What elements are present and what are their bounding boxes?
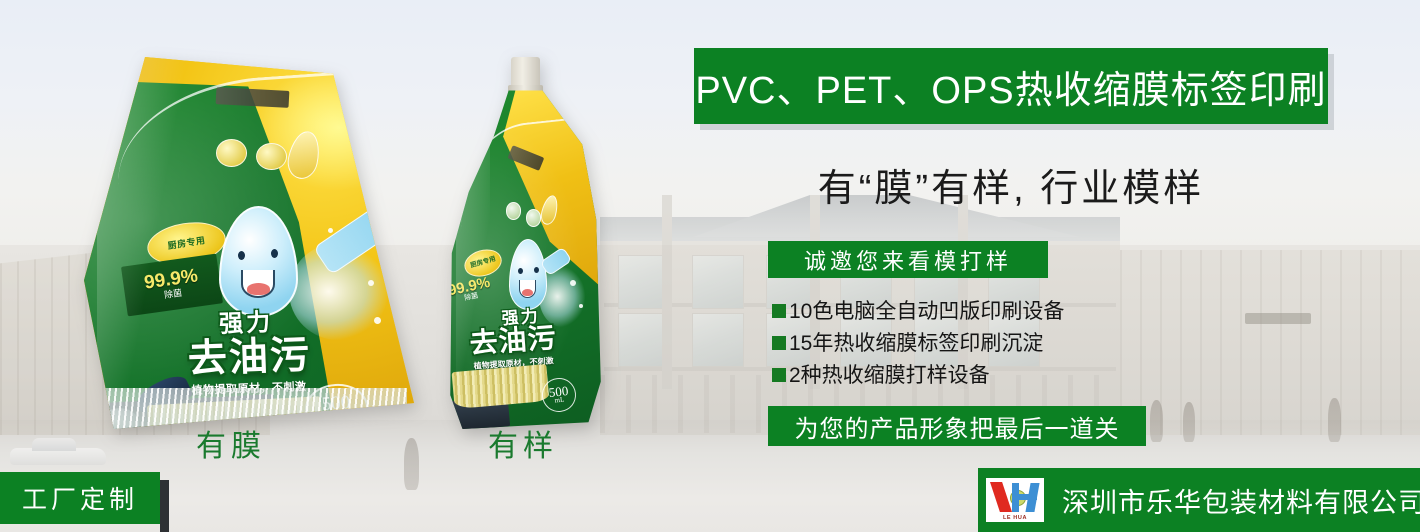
mascot-eye-right: [534, 267, 539, 273]
caption-left: 有膜: [196, 432, 266, 462]
background-pedestrian: [1150, 400, 1163, 442]
bullet-square-icon: [772, 336, 786, 350]
pouch-kitchen-badge-label: 厨房专用: [167, 236, 206, 251]
invitation-bar[interactable]: 诚邀您来看模打样: [768, 241, 1048, 278]
mascot-eye-right: [271, 249, 278, 258]
list-item: 2种热收缩膜打样设备: [772, 361, 1192, 389]
bottle-gloss-overlay: [456, 124, 490, 415]
background-car: [10, 438, 106, 468]
bubble: [368, 280, 374, 286]
pouch-seal-ribs: [97, 388, 407, 429]
factory-custom-label: 工厂定制: [22, 480, 138, 516]
background-pedestrian: [1183, 402, 1195, 442]
promise-text: 为您的产品形象把最后一道关: [795, 409, 1120, 444]
building-window: [692, 313, 744, 367]
pouch-sanitize-label: 除菌: [163, 288, 182, 301]
bubble: [579, 304, 583, 308]
building-window: [692, 255, 744, 309]
bullet-square-icon: [772, 368, 786, 382]
mascot-mouth: [519, 280, 536, 298]
headline-text: PVC、PET、OPS热收缩膜标签印刷: [695, 59, 1326, 114]
company-footer: LE HUA 深圳市乐华包装材料有限公司: [978, 468, 1420, 532]
promise-bar: 为您的产品形象把最后一道关: [768, 406, 1146, 446]
list-item-label: 10色电脑全自动凹版印刷设备: [789, 301, 1064, 322]
bottle-volume-unit: mL: [555, 397, 565, 405]
factory-tag-shadow: [160, 480, 169, 532]
mascot-mouth: [241, 270, 276, 298]
factory-custom-tag[interactable]: 工厂定制: [0, 472, 160, 524]
product-bottle: 厨房专用 99.9% 除菌 强力 去油污 植物提取原材，不刺激: [444, 57, 604, 429]
pouch-title-large: 去油污: [156, 335, 342, 380]
list-item: 15年热收缩膜标签印刷沉淀: [772, 329, 1192, 357]
background-pedestrian: [404, 438, 419, 490]
building-column: [662, 195, 672, 389]
logo-blue-stem-right: [1025, 483, 1039, 512]
mascot-eye-left: [238, 251, 245, 260]
pouch-icon-badge: [256, 143, 287, 171]
pouch-icon-badge: [216, 139, 247, 167]
invitation-label: 诚邀您来看模打样: [804, 244, 1012, 276]
promo-banner: 厨房专用 99.9% 除菌 强力 去油污 植物提取原材，不刺激: [0, 0, 1420, 532]
pouch-volume-unit: mL: [330, 412, 343, 422]
pouch-brand-strip: [216, 87, 289, 108]
pouch-bottom-seal: [97, 388, 407, 429]
pouch-title-small: 强力: [189, 310, 302, 338]
list-item: 10色电脑全自动凹版印刷设备: [772, 297, 1192, 325]
headline-bar: PVC、PET、OPS热收缩膜标签印刷: [694, 48, 1328, 124]
background-signage: [1245, 313, 1311, 324]
logo-red-stripe: [990, 482, 1012, 512]
feature-list: 10色电脑全自动凹版印刷设备 15年热收缩膜标签印刷沉淀 2种热收缩膜打样设备: [772, 297, 1192, 393]
list-item-label: 15年热收缩膜标签印刷沉淀: [789, 333, 1043, 354]
logo-wordmark: LE HUA: [986, 515, 1044, 521]
subheading-text: 有“膜”有样, 行业模样: [694, 157, 1328, 212]
background-pedestrian: [1328, 398, 1341, 442]
list-item-label: 2种热收缩膜打样设备: [789, 365, 990, 386]
bottle-icon-badge: [526, 209, 541, 227]
bottle-icon-badge: [506, 202, 521, 220]
company-name: 深圳市乐华包装材料有限公司: [1062, 481, 1420, 520]
bullet-square-icon: [772, 304, 786, 318]
car-roof: [32, 438, 76, 451]
bottle-body: 厨房专用 99.9% 除菌 强力 去油污 植物提取原材，不刺激: [447, 90, 601, 429]
company-logo-icon: LE HUA: [986, 478, 1044, 522]
mascot-eye-left: [518, 268, 523, 274]
product-pouch: 厨房专用 99.9% 除菌 强力 去油污 植物提取原材，不刺激: [84, 57, 414, 429]
pouch-shape: 厨房专用 99.9% 除菌 强力 去油污 植物提取原材，不刺激: [84, 57, 414, 429]
caption-right: 有样: [488, 432, 558, 462]
